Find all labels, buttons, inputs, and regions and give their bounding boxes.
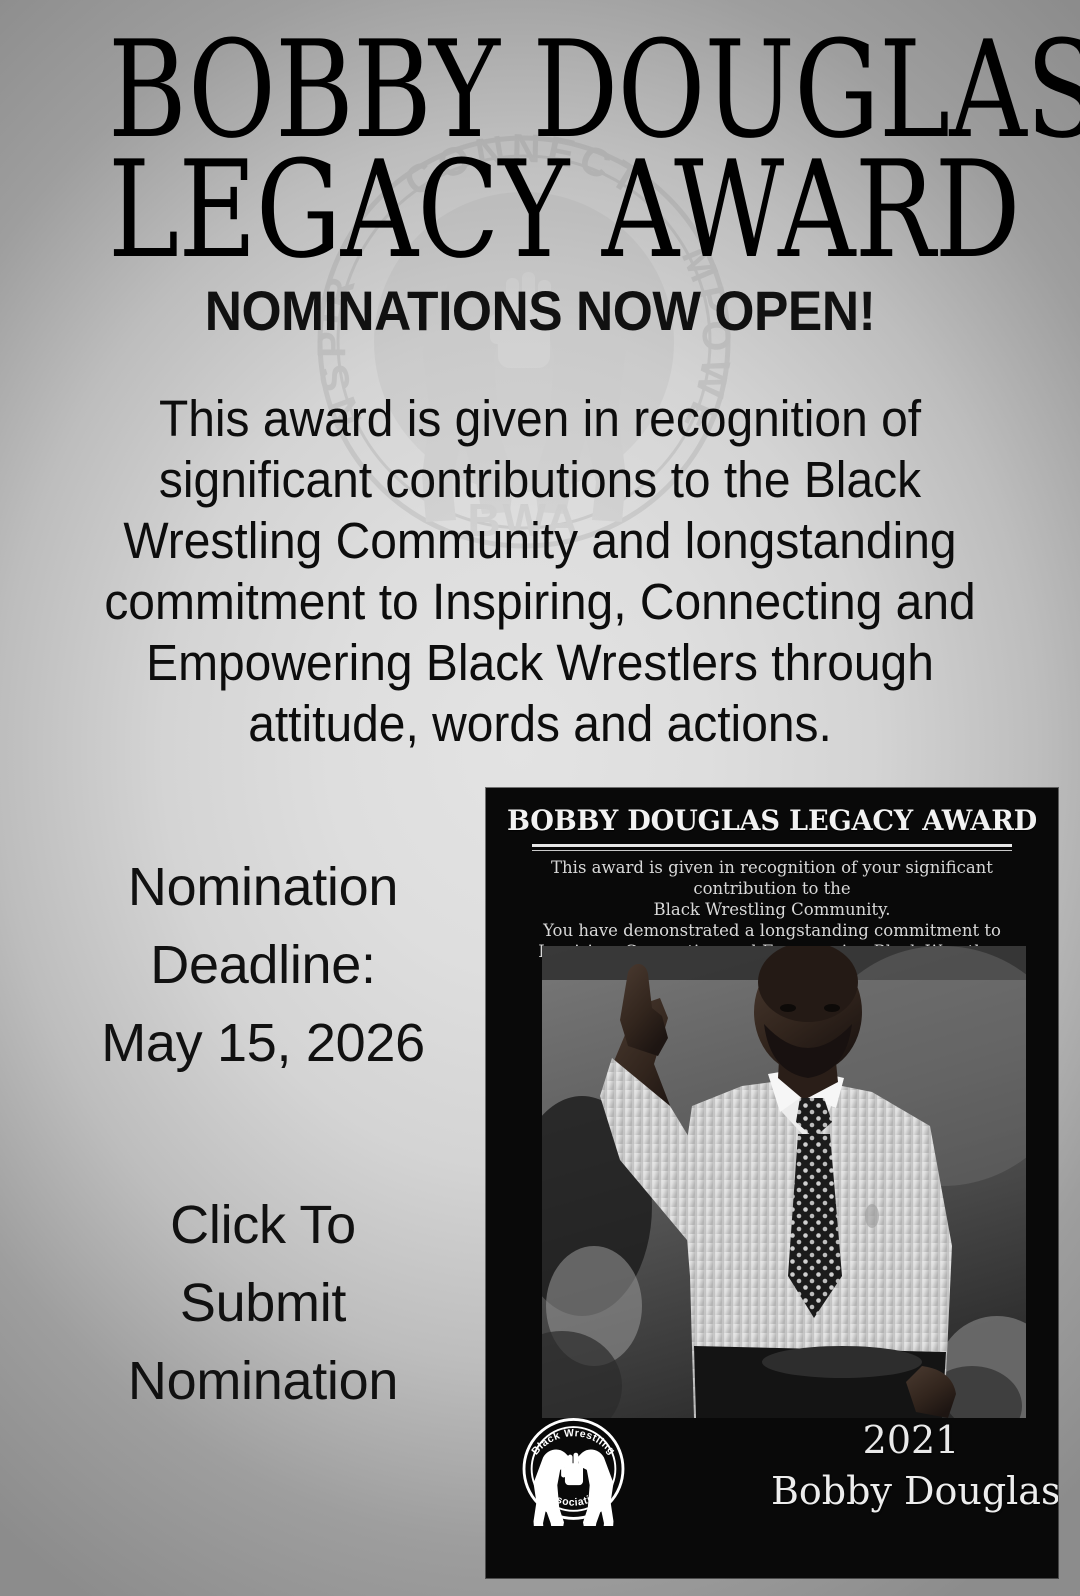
deadline-date: May 15, 2026: [48, 1004, 478, 1082]
cta-line-2: Submit: [48, 1264, 478, 1342]
cta-line-1: Click To: [48, 1186, 478, 1264]
plaque-citation-line-2: Black Wrestling Community.: [500, 899, 1044, 920]
cta-line-3: Nomination: [48, 1342, 478, 1420]
plaque-divider-rule: [532, 844, 1012, 847]
plaque-recipient-name: Bobby Douglas: [771, 1469, 1043, 1513]
award-description: This award is given in recognition of si…: [94, 388, 985, 754]
poster-canvas: CONNECT INSPIRE EMPOWER BWA: [0, 0, 1080, 1596]
deadline-block: Nomination Deadline: May 15, 2026: [48, 848, 478, 1082]
plaque-citation-line-3: You have demonstrated a longstanding com…: [500, 920, 1044, 941]
recipient-photo: [542, 946, 1026, 1418]
svg-text:Black Wrestling: Black Wrestling: [530, 1428, 617, 1457]
subheadline: NOMINATIONS NOW OPEN!: [43, 278, 1037, 343]
deadline-label-line-1: Nomination: [48, 848, 478, 926]
page-title: BOBBY DOUGLAS LEGACY AWARD: [0, 28, 1080, 274]
bwa-logo-icon: Black Wrestling Association: [516, 1408, 631, 1526]
submit-nomination-link[interactable]: Click To Submit Nomination: [48, 1186, 478, 1420]
plaque-citation-line-1: This award is given in recognition of yo…: [500, 857, 1044, 899]
plaque-year: 2021: [786, 1418, 1036, 1462]
plaque-divider-rule-thin: [532, 850, 1012, 851]
deadline-label-line-2: Deadline:: [48, 926, 478, 1004]
plaque-title: BOBBY DOUGLAS LEGACY AWARD: [495, 804, 1050, 837]
award-plaque-image: BOBBY DOUGLAS LEGACY AWARD This award is…: [486, 788, 1058, 1578]
headline-line-2: LEGACY AWARD: [108, 148, 972, 274]
